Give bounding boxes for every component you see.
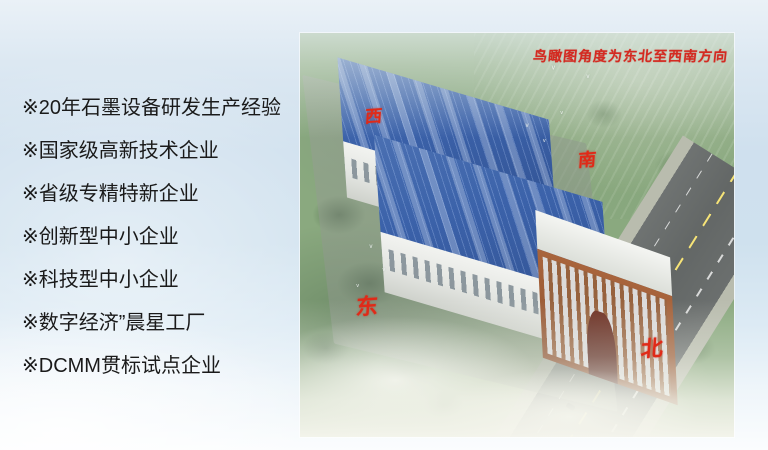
bird-icon: ᵛ — [382, 267, 385, 275]
bird-icon: ᵛ — [560, 110, 563, 118]
list-item: ※科技型中小企业 — [22, 270, 307, 290]
list-item: ※国家级高新技术企业 — [22, 141, 307, 161]
list-item: ※创新型中小企业 — [22, 227, 307, 247]
bird-icon: ᵛ — [543, 138, 546, 146]
list-item: ※数字经济”晨星工厂 — [22, 313, 307, 333]
direction-marker-east: 东 — [355, 295, 379, 318]
list-item: ※省级专精特新企业 — [22, 184, 307, 204]
bird-icon: ᵛ — [552, 65, 555, 75]
aerial-view-image: ᵛ ᵛ ᵛ ᵛ ᵛ ᵛ ᵛ ᵛ ᵛ — [300, 33, 734, 437]
photo-content: ᵛ ᵛ ᵛ ᵛ ᵛ ᵛ ᵛ ᵛ ᵛ — [300, 33, 734, 437]
bird-icon: ᵛ — [356, 283, 359, 291]
slide-canvas: ※20年石墨设备研发生产经验 ※国家级高新技术企业 ※省级专精特新企业 ※创新型… — [0, 0, 768, 450]
viewpoint-annotation: 鸟瞰图角度为东北至西南方向 — [532, 50, 729, 65]
direction-marker-south: 南 — [577, 151, 596, 170]
bird-icon: ᵛ — [586, 73, 589, 82]
achievements-list: ※20年石墨设备研发生产经验 ※国家级高新技术企业 ※省级专精特新企业 ※创新型… — [22, 98, 307, 376]
factory-complex — [300, 33, 734, 437]
direction-marker-north: 北 — [640, 337, 664, 360]
bird-icon: ᵛ — [526, 122, 529, 131]
direction-marker-west: 西 — [364, 108, 382, 126]
bird-icon: ᵛ — [369, 243, 372, 252]
list-item: ※DCMM贯标试点企业 — [22, 356, 307, 376]
list-item: ※20年石墨设备研发生产经验 — [22, 98, 307, 118]
